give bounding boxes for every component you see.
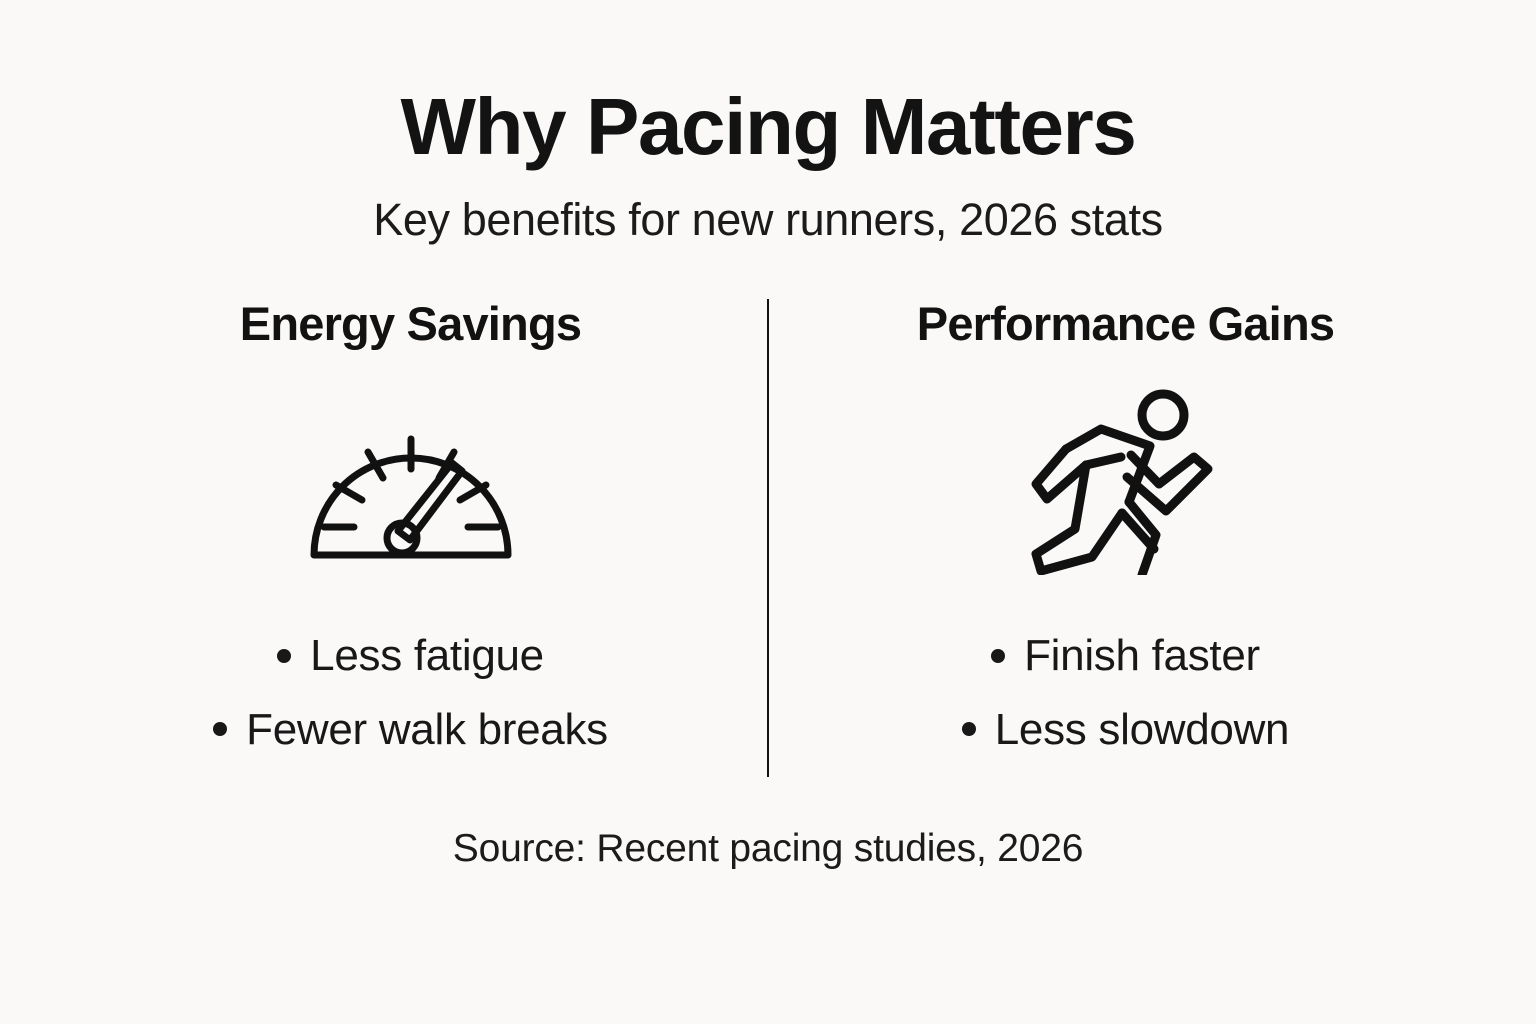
page-subtitle: Key benefits for new runners, 2026 stats <box>0 196 1536 243</box>
bullet-list-performance-gains: Finish faster Less slowdown <box>962 632 1289 753</box>
column-heading-performance-gains: Performance Gains <box>917 299 1334 348</box>
bullet-dot-icon <box>213 722 227 736</box>
list-item-label: Finish faster <box>1024 632 1260 680</box>
column-divider <box>767 299 769 777</box>
footer: Source: Recent pacing studies, 2026 <box>0 827 1536 871</box>
list-item-label: Fewer walk breaks <box>246 706 608 754</box>
bullet-dot-icon <box>277 649 291 663</box>
list-item: Less fatigue <box>277 632 544 680</box>
list-item: Finish faster <box>991 632 1260 680</box>
bullet-list-energy-savings: Less fatigue Fewer walk breaks <box>213 632 608 753</box>
page-title: Why Pacing Matters <box>0 86 1536 168</box>
column-performance-gains: Performance Gains <box>768 299 1483 753</box>
header: Why Pacing Matters Key benefits for new … <box>0 0 1536 243</box>
gauge-speedometer-icon <box>306 392 516 572</box>
running-person-icon <box>1026 392 1226 572</box>
bullet-dot-icon <box>991 649 1005 663</box>
column-energy-savings: Energy Savings <box>53 299 768 753</box>
list-item-label: Less slowdown <box>995 706 1289 754</box>
columns-container: Energy Savings <box>53 299 1483 753</box>
infographic-page: Why Pacing Matters Key benefits for new … <box>0 0 1536 1024</box>
list-item: Fewer walk breaks <box>213 706 608 754</box>
source-note: Source: Recent pacing studies, 2026 <box>453 827 1083 870</box>
bullet-dot-icon <box>962 722 976 736</box>
list-item-label: Less fatigue <box>310 632 544 680</box>
list-item: Less slowdown <box>962 706 1289 754</box>
column-heading-energy-savings: Energy Savings <box>240 299 581 348</box>
